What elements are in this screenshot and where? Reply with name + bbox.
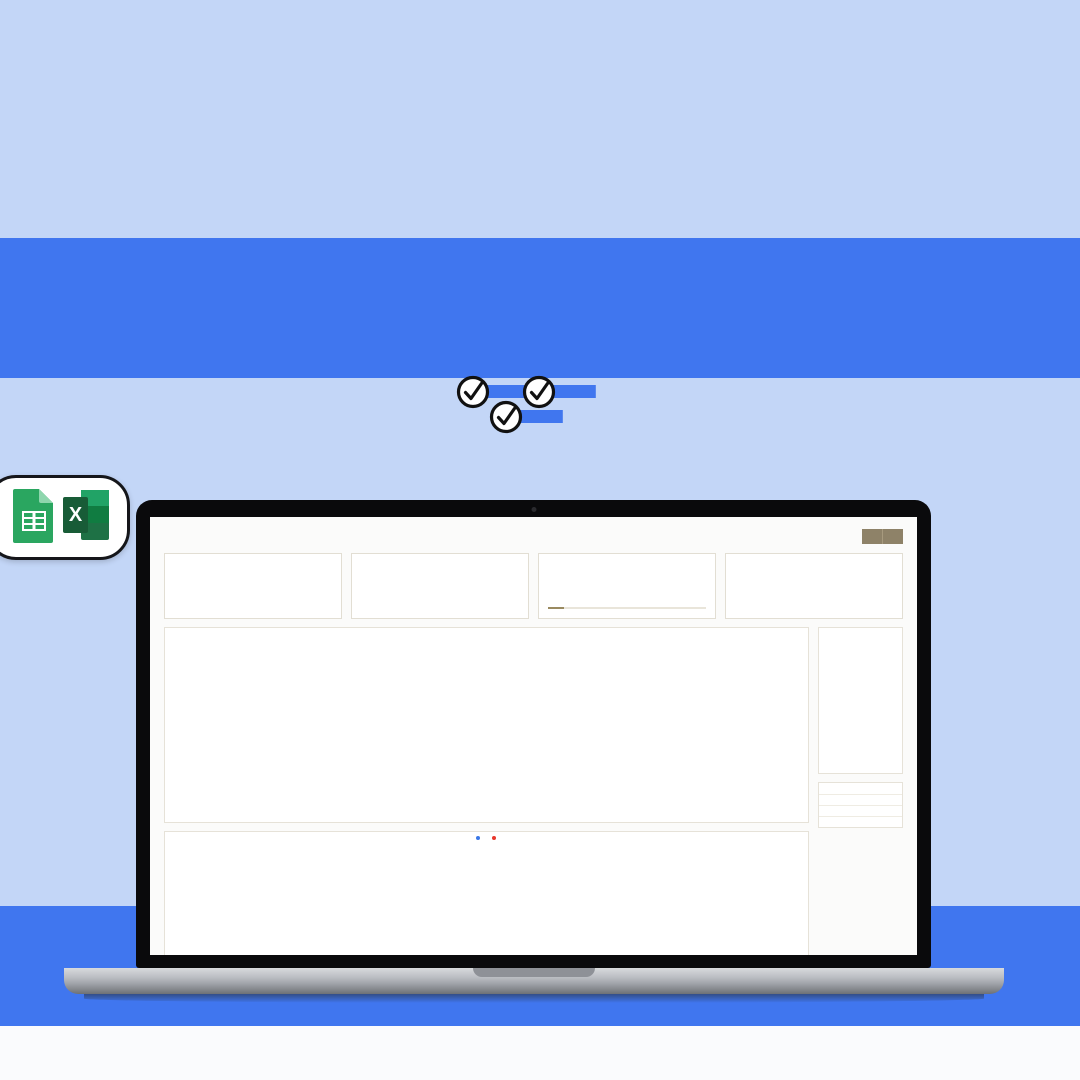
google-sheets-icon (11, 487, 57, 548)
laptop-lid (136, 500, 931, 968)
value-prop-banner (0, 238, 1080, 378)
kpi-dashboard (150, 517, 917, 955)
pie-chart-card (818, 627, 903, 774)
status-count-title (819, 783, 902, 794)
legend-end-date (492, 836, 498, 840)
kpi-card-actual-cost (351, 553, 529, 619)
webcam-icon (531, 507, 536, 512)
svg-text:X: X (69, 504, 83, 526)
project-name-chip (862, 529, 903, 544)
check-circle-icon (456, 375, 490, 409)
area-chart-card (164, 627, 809, 823)
project-status-badge (361, 597, 519, 612)
status-count-card (818, 782, 903, 828)
kpi-card-row (164, 553, 903, 619)
hero-title (0, 0, 1080, 238)
variance-progress-bar (548, 607, 706, 609)
status-row-completed (819, 794, 902, 805)
feature-pill-list (0, 385, 1080, 423)
kpi-card-tasks-completion (725, 553, 903, 619)
laptop-base (64, 968, 1004, 994)
feature-pill-save-hours (549, 385, 597, 398)
check-circle-icon (489, 400, 523, 434)
status-row-in-progress (819, 805, 902, 816)
area-chart (171, 640, 802, 788)
project-name-label (862, 529, 882, 544)
status-row-not-started (819, 816, 902, 827)
software-compatibility-badge: X (0, 475, 130, 560)
cost-pie-chart (819, 628, 902, 768)
laptop-mockup (136, 500, 1004, 1003)
laptop-shadow (84, 994, 984, 1003)
feature-pill-all-data (516, 410, 564, 423)
kpi-card-planned-cost (164, 553, 342, 619)
laptop-screen (150, 517, 917, 955)
legend-start-date (476, 836, 482, 840)
excel-icon: X (61, 488, 111, 547)
area-chart-xaxis (171, 793, 802, 815)
project-name-value (882, 529, 903, 544)
footer-bar (0, 1026, 1080, 1080)
horizontal-bar-chart (171, 842, 802, 950)
kpi-card-variance (538, 553, 716, 619)
bar-chart-card (164, 831, 809, 955)
feature-pill-label (517, 410, 563, 423)
feature-pill-label (550, 385, 596, 398)
check-circle-icon (522, 375, 556, 409)
